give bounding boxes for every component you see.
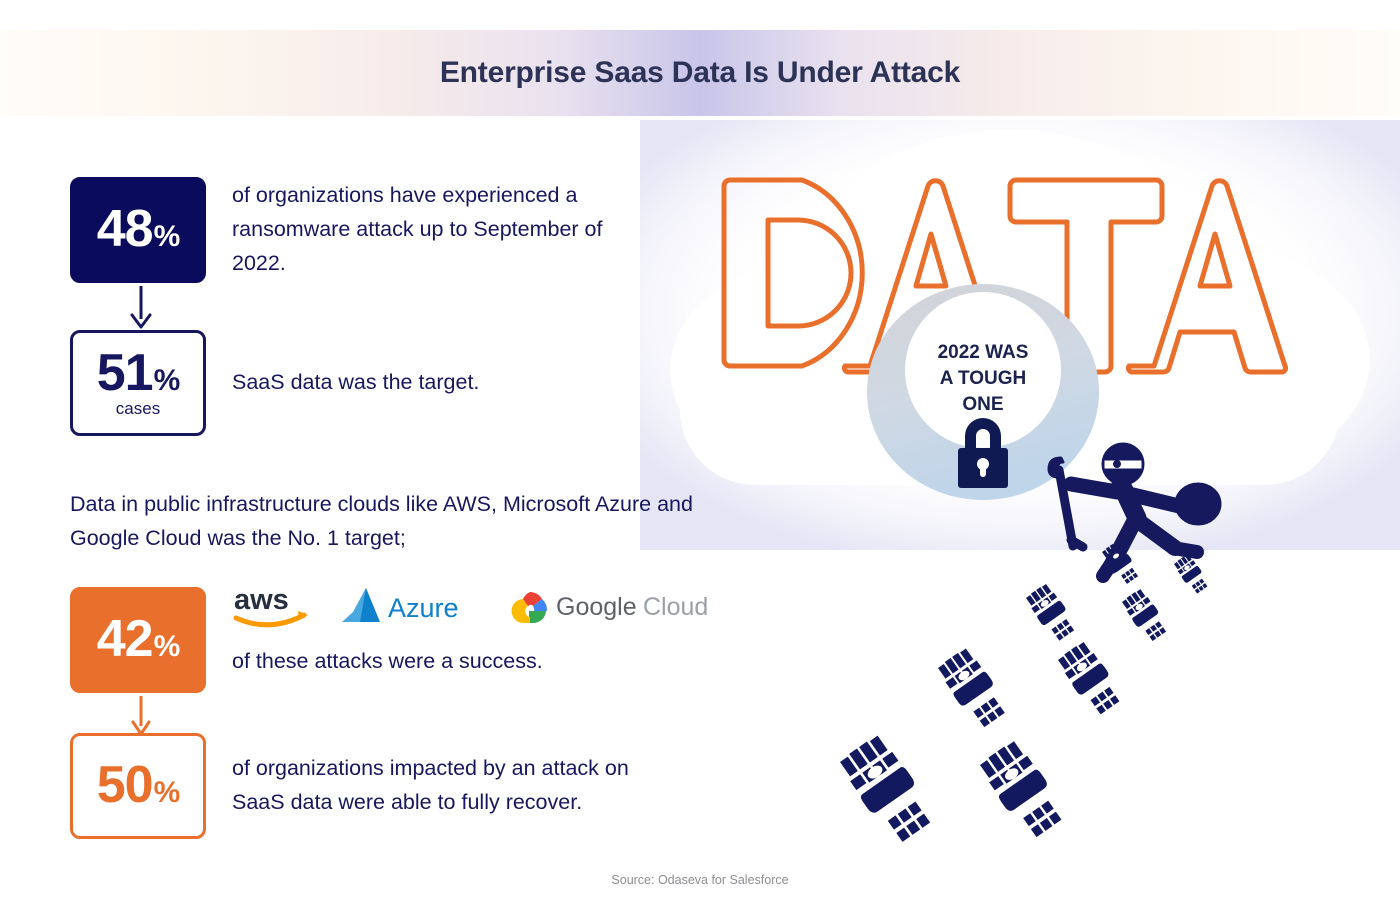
infographic-canvas: Enterprise Saas Data Is Under Attack	[0, 0, 1400, 920]
connector-arrow-orange	[124, 696, 158, 738]
stat-sublabel-cases: cases	[116, 400, 160, 417]
stat-value-50: 50%	[97, 761, 180, 811]
stat-text-48: of organizations have experienced a rans…	[232, 179, 662, 281]
illustration-group: 2022 WAS A TOUGH ONE	[640, 120, 1400, 850]
source-note: Source: Odaseva for Salesforce	[0, 873, 1400, 887]
stat-text-50: of organizations impacted by an attack o…	[232, 752, 662, 820]
stat-row-attack-success: 42% of these attacks were a success.	[70, 587, 543, 693]
stat-box-51: 51% cases	[70, 330, 206, 436]
footprints-icon	[830, 540, 1260, 870]
connector-arrow-navy	[124, 286, 158, 330]
stat-box-48: 48%	[70, 177, 206, 283]
stat-value-51: 51%	[97, 349, 180, 399]
stat-box-50: 50%	[70, 733, 206, 839]
badge-line-2: A TOUGH	[940, 368, 1027, 389]
cloud-wordmark: Cloud	[643, 593, 708, 621]
stat-value-42: 42%	[97, 615, 180, 665]
stat-row-ransomware-attack: 48% of organizations have experienced a …	[70, 177, 662, 283]
stat-box-42: 42%	[70, 587, 206, 693]
lead-paragraph: Data in public infrastructure clouds lik…	[70, 488, 750, 556]
stat-value-48: 48%	[97, 205, 180, 255]
stat-row-saas-target: 51% cases SaaS data was the target.	[70, 330, 479, 436]
badge-line-1: 2022 WAS	[938, 342, 1029, 363]
google-wordmark: Google	[556, 593, 637, 621]
badge-line-3: ONE	[962, 394, 1003, 415]
stat-row-full-recovery: 50% of organizations impacted by an atta…	[70, 733, 662, 839]
page-title: Enterprise Saas Data Is Under Attack	[0, 30, 1400, 116]
stat-text-42: of these attacks were a success.	[232, 645, 543, 679]
stat-text-51: SaaS data was the target.	[232, 366, 479, 400]
